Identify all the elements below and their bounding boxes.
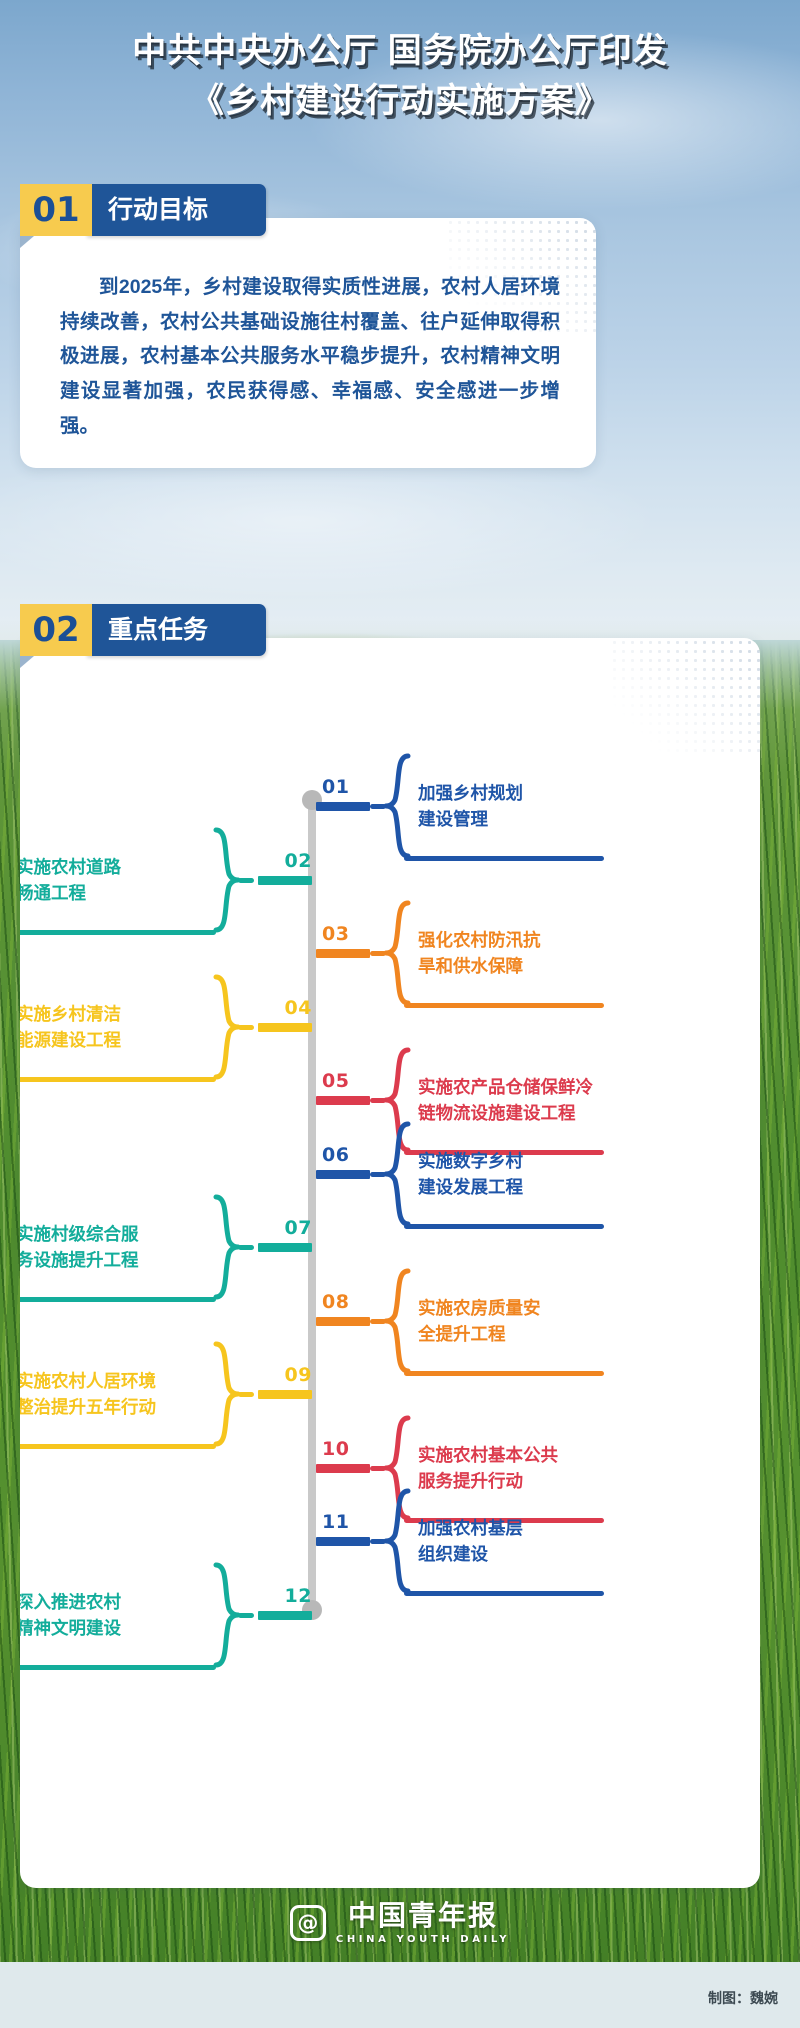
timeline-number-01: 01 — [322, 776, 349, 798]
timeline-number-07: 07 — [260, 1217, 312, 1239]
timeline-tick-10 — [316, 1464, 370, 1473]
timeline-brace-03 — [382, 899, 412, 1007]
timeline-rail-09 — [20, 1444, 216, 1449]
timeline-connector-04 — [238, 1025, 254, 1030]
timeline-tick-11 — [316, 1537, 370, 1546]
section-heading-01: 行动目标 — [86, 184, 266, 236]
timeline-connector-02 — [238, 878, 254, 883]
timeline-label-03: 强化农村防汛抗旱和供水保障 — [418, 927, 608, 980]
timeline-rail-01 — [404, 856, 604, 861]
timeline-connector-05 — [370, 1098, 386, 1103]
at-sign-icon: @ — [290, 1905, 326, 1941]
page-title-line-2: 《乡村建设行动实施方案》 — [0, 80, 800, 124]
publisher-logo-text: 中国青年报 CHINA YOUTH DAILY — [336, 1901, 510, 1944]
timeline-connector-12 — [238, 1613, 254, 1618]
timeline-number-10: 10 — [322, 1438, 349, 1460]
timeline-number-12: 12 — [260, 1585, 312, 1607]
timeline-label-05: 实施农产品仓储保鲜冷链物流设施建设工程 — [418, 1074, 608, 1127]
timeline-label-10: 实施农村基本公共服务提升行动 — [418, 1442, 608, 1495]
timeline-label-01: 加强乡村规划建设管理 — [418, 780, 608, 833]
timeline-connector-03 — [370, 951, 386, 956]
page-title: 中共中央办公厅 国务院办公厅印发 《乡村建设行动实施方案》 — [0, 30, 800, 123]
timeline-rail-08 — [404, 1371, 604, 1376]
page-title-line-1: 中共中央办公厅 国务院办公厅印发 — [0, 30, 800, 74]
timeline-connector-07 — [238, 1245, 254, 1250]
timeline-brace-06 — [382, 1120, 412, 1228]
action-goal-text: 到2025年，乡村建设取得实质性进展，农村人居环境持续改善，农村公共基础设施往村… — [60, 270, 560, 444]
timeline-label-09: 实施农村人居环境整治提升五年行动 — [20, 1368, 206, 1421]
timeline-label-12: 深入推进农村精神文明建设 — [20, 1589, 206, 1642]
timeline-label-02: 实施农村道路畅通工程 — [20, 854, 206, 907]
key-tasks-card: 01加强乡村规划建设管理02实施农村道路畅通工程03强化农村防汛抗旱和供水保障0… — [20, 638, 760, 1888]
timeline-brace-11 — [382, 1487, 412, 1595]
timeline-number-03: 03 — [322, 923, 349, 945]
action-goal-card: 到2025年，乡村建设取得实质性进展，农村人居环境持续改善，农村公共基础设施往村… — [20, 218, 596, 468]
timeline-number-11: 11 — [322, 1511, 349, 1533]
timeline-label-04: 实施乡村清洁能源建设工程 — [20, 1001, 206, 1054]
timeline-label-06: 实施数字乡村建设发展工程 — [418, 1148, 608, 1201]
timeline-tick-05 — [316, 1096, 370, 1105]
timeline-number-05: 05 — [322, 1070, 349, 1092]
timeline-rail-04 — [20, 1077, 216, 1082]
timeline-number-02: 02 — [260, 850, 312, 872]
timeline-connector-09 — [238, 1392, 254, 1397]
timeline-rail-12 — [20, 1665, 216, 1670]
key-tasks-timeline: 01加强乡村规划建设管理02实施农村道路畅通工程03强化农村防汛抗旱和供水保障0… — [20, 638, 760, 1888]
bottom-strip — [0, 1962, 800, 2028]
timeline-connector-10 — [370, 1466, 386, 1471]
timeline-number-09: 09 — [260, 1364, 312, 1386]
timeline-rail-03 — [404, 1003, 604, 1008]
timeline-connector-08 — [370, 1319, 386, 1324]
timeline-rail-07 — [20, 1297, 216, 1302]
timeline-tick-06 — [316, 1170, 370, 1179]
section-header-02: 02 重点任务 — [20, 604, 266, 656]
timeline-tick-09 — [258, 1390, 312, 1399]
timeline-tick-07 — [258, 1243, 312, 1252]
section-heading-02: 重点任务 — [86, 604, 266, 656]
section-number-badge-01: 01 — [20, 184, 92, 236]
timeline-rail-02 — [20, 930, 216, 935]
timeline-tick-03 — [316, 949, 370, 958]
timeline-number-08: 08 — [322, 1291, 349, 1313]
timeline-connector-11 — [370, 1539, 386, 1544]
timeline-label-11: 加强农村基层组织建设 — [418, 1515, 608, 1568]
timeline-axis-line — [308, 800, 316, 1610]
timeline-label-08: 实施农房质量安全提升工程 — [418, 1295, 608, 1348]
publisher-name-en: CHINA YOUTH DAILY — [336, 1934, 510, 1945]
timeline-label-07: 实施村级综合服务设施提升工程 — [20, 1221, 206, 1274]
timeline-number-04: 04 — [260, 997, 312, 1019]
timeline-connector-01 — [370, 804, 386, 809]
designer-credit: 制图：魏婉 — [708, 1988, 778, 2008]
timeline-rail-06 — [404, 1224, 604, 1229]
publisher-logo: @ 中国青年报 CHINA YOUTH DAILY — [0, 1884, 800, 1962]
publisher-name-cn: 中国青年报 — [348, 1901, 498, 1930]
timeline-brace-08 — [382, 1267, 412, 1375]
section-number-badge-02: 02 — [20, 604, 92, 656]
timeline-connector-06 — [370, 1172, 386, 1177]
timeline-tick-02 — [258, 876, 312, 885]
timeline-tick-12 — [258, 1611, 312, 1620]
timeline-tick-04 — [258, 1023, 312, 1032]
timeline-brace-01 — [382, 752, 412, 860]
timeline-tick-01 — [316, 802, 370, 811]
timeline-tick-08 — [316, 1317, 370, 1326]
timeline-rail-11 — [404, 1591, 604, 1596]
timeline-number-06: 06 — [322, 1144, 349, 1166]
section-header-01: 01 行动目标 — [20, 184, 266, 236]
